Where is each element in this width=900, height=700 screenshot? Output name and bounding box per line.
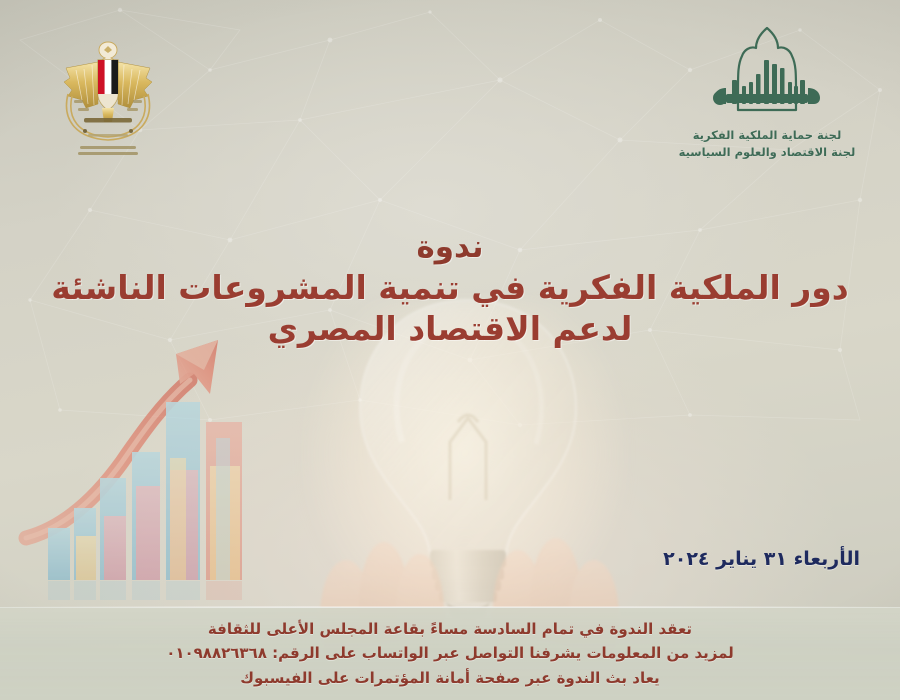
supreme-council-of-culture-logo: لجنة حماية الملكية الفكرية لجنة الاقتصاد…: [672, 22, 862, 177]
council-mihrab-wordmark-icon: [692, 22, 842, 127]
growth-bar-chart-with-arrow: [4, 330, 294, 600]
headline-block: ندوة دور الملكية الفكرية في تنمية المشرو…: [0, 228, 900, 350]
seminar-title-line-1: دور الملكية الفكرية في تنمية المشروعات ا…: [0, 268, 900, 309]
seminar-kicker: ندوة: [0, 228, 900, 266]
council-committee-1: لجنة حماية الملكية الفكرية: [672, 127, 862, 144]
footer-divider: [0, 606, 900, 608]
footer-text-block: تعقد الندوة في تمام السادسة مساءً بقاعة …: [0, 617, 900, 700]
ministry-of-culture-emblem: [48, 34, 168, 159]
seminar-title-line-2: لدعم الاقتصاد المصري: [0, 309, 900, 350]
footer-line-stream: يعاد بث الندوة عبر صفحة أمانة المؤتمرات …: [0, 666, 900, 690]
footer-line-venue: تعقد الندوة في تمام السادسة مساءً بقاعة …: [0, 617, 900, 641]
poster-canvas: لجنة حماية الملكية الفكرية لجنة الاقتصاد…: [0, 0, 900, 700]
event-date: الأربعاء ٣١ يناير ٢٠٢٤: [663, 548, 860, 570]
council-committee-2: لجنة الاقتصاد والعلوم السياسية: [672, 144, 862, 161]
footer-line-contact: لمزيد من المعلومات يشرفنا التواصل عبر ال…: [0, 641, 900, 665]
